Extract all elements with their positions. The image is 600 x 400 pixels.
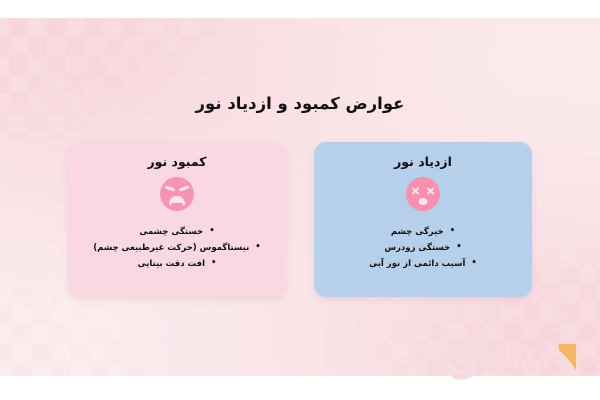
card-title-light-deficiency: کمبود نور bbox=[68, 154, 286, 169]
slide-canvas: عوارض کمبود و ازدیاد نور کمبود نور •خستگ… bbox=[0, 0, 600, 400]
cards-container: کمبود نور •خستگی چشمی •نیستاگموس (حرکت غ… bbox=[0, 142, 600, 307]
bullet-glyph: • bbox=[471, 256, 476, 271]
bullet-glyph: • bbox=[450, 224, 455, 239]
list-item: •نیستاگموس (حرکت غیرطبیعی چشم) bbox=[68, 240, 286, 256]
angry-eye-right bbox=[179, 185, 189, 191]
bullet-glyph: • bbox=[456, 240, 461, 255]
list-item-label: نیستاگموس (حرکت غیرطبیعی چشم) bbox=[93, 243, 249, 253]
angry-mouth bbox=[169, 196, 185, 206]
dizzy-mouth bbox=[419, 198, 428, 205]
dizzy-eye-left bbox=[411, 186, 420, 195]
card-light-deficiency[interactable]: کمبود نور •خستگی چشمی •نیستاگموس (حرکت غ… bbox=[68, 142, 286, 297]
list-item: •خستگی زودرس bbox=[314, 240, 532, 256]
bullet-list-excess-light: •خیرگی چشم •خستگی زودرس •آسیب دائمی از ن… bbox=[314, 224, 532, 272]
bullet-glyph: • bbox=[255, 240, 260, 255]
bullet-list-light-deficiency: •خستگی چشمی •نیستاگموس (حرکت غیرطبیعی چش… bbox=[68, 224, 286, 272]
dizzy-face-icon bbox=[406, 177, 440, 211]
list-item-label: خستگی زودرس bbox=[384, 243, 450, 253]
list-item: •افت دقت بینایی bbox=[68, 256, 286, 272]
bottom-white-strip bbox=[0, 376, 600, 400]
list-item-label: آسیب دائمی از نور آبی bbox=[369, 259, 465, 269]
list-item-label: خستگی چشمی bbox=[139, 227, 203, 237]
dizzy-eye-right bbox=[426, 186, 435, 195]
page-title: عوارض کمبود و ازدیاد نور bbox=[0, 94, 600, 113]
list-item: •آسیب دائمی از نور آبی bbox=[314, 256, 532, 272]
card-excess-light[interactable]: ازدیاد نور •خیرگی چشم •خستگی زودرس •آسیب… bbox=[314, 142, 532, 297]
list-item: •خیرگی چشم bbox=[314, 224, 532, 240]
list-item: •خستگی چشمی bbox=[68, 224, 286, 240]
list-item-label: افت دقت بینایی bbox=[138, 259, 205, 269]
bullet-glyph: • bbox=[211, 256, 216, 271]
angry-eye-left bbox=[165, 185, 175, 191]
list-item-label: خیرگی چشم bbox=[391, 227, 444, 237]
angry-face-icon bbox=[160, 177, 194, 211]
top-white-strip bbox=[0, 0, 600, 18]
checkered-pattern-top-left bbox=[0, 18, 220, 143]
icon-wrap-dizzy bbox=[314, 177, 532, 211]
icon-wrap-angry bbox=[68, 177, 286, 211]
bullet-glyph: • bbox=[209, 224, 214, 239]
card-title-excess-light: ازدیاد نور bbox=[314, 154, 532, 169]
